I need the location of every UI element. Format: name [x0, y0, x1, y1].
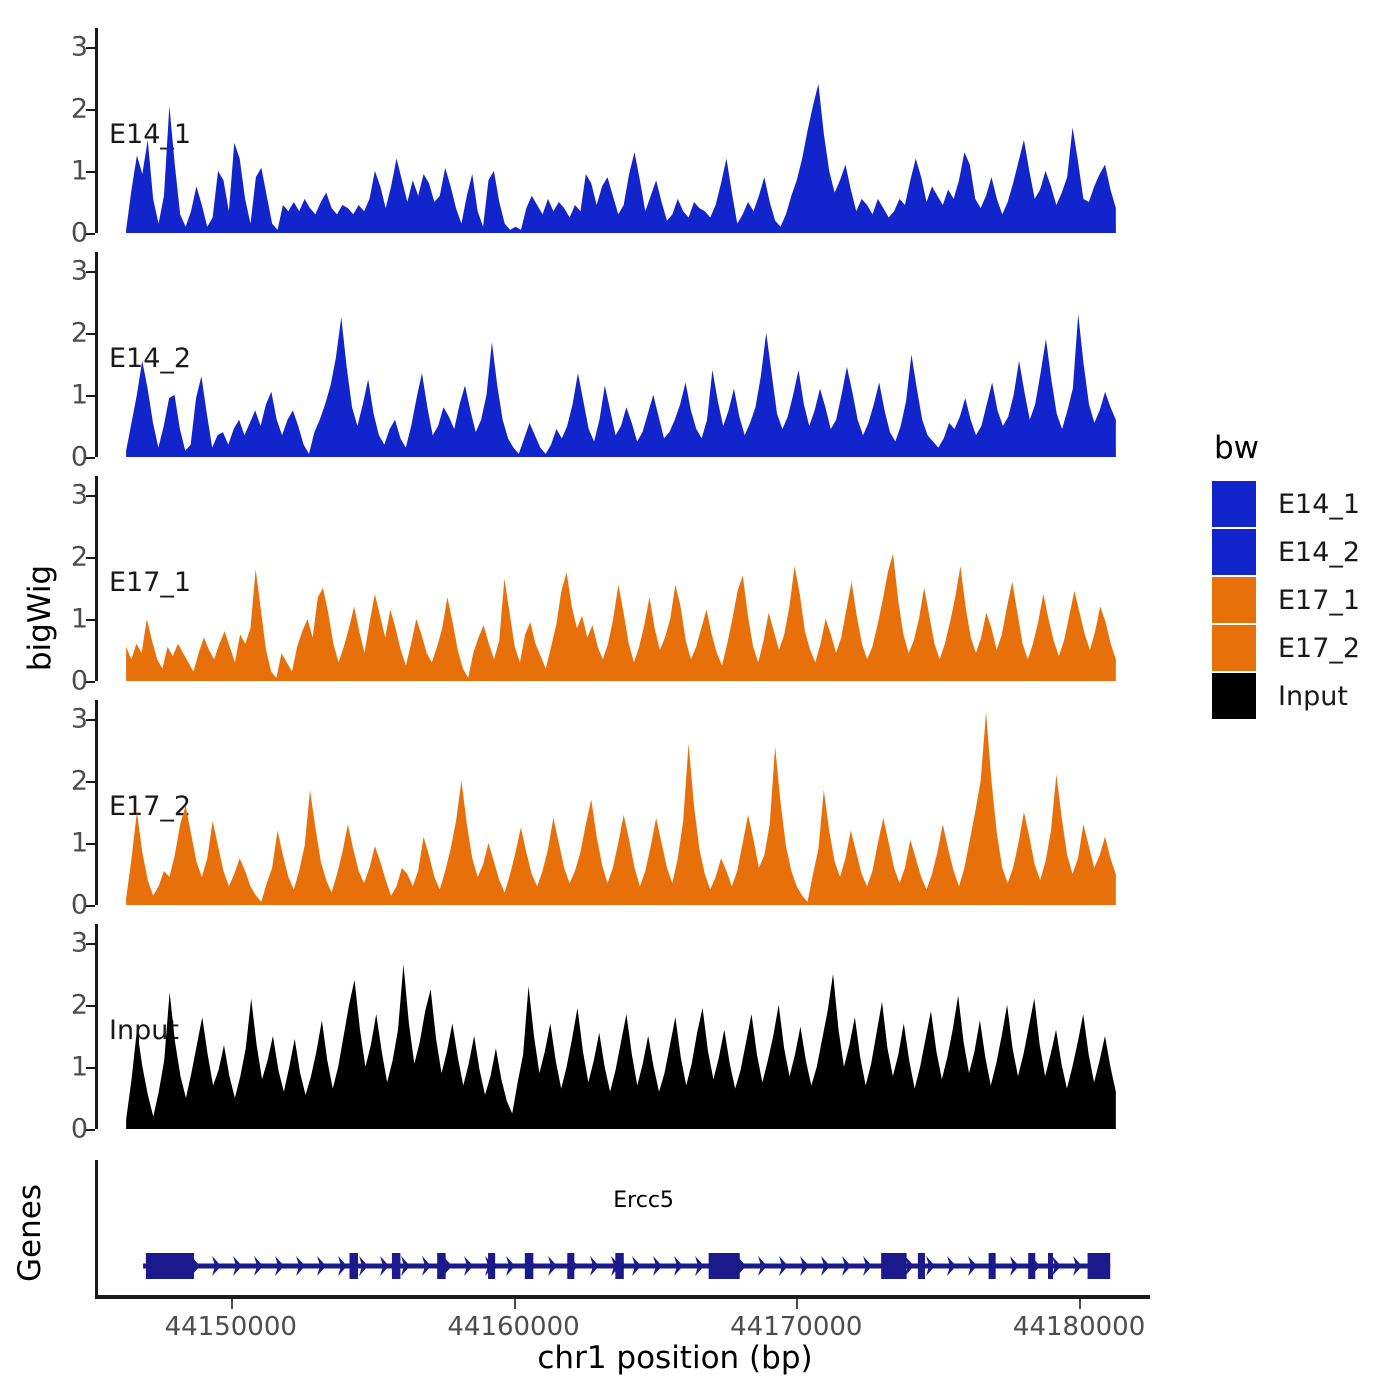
x-tick-mark — [231, 1299, 233, 1309]
y-tick-label: 0 — [71, 444, 88, 471]
legend-title: bw — [1214, 430, 1360, 466]
y-tick-label: 3 — [71, 481, 88, 508]
legend-items: E14_1E14_2E17_1E17_2Input — [1212, 480, 1360, 720]
legend-item-input[interactable]: Input — [1212, 672, 1360, 720]
y-tick-label: 2 — [71, 767, 88, 794]
legend-item-label: Input — [1278, 681, 1348, 712]
bigwig-axis-title: bigWig — [22, 518, 58, 718]
gene-exon — [918, 1253, 925, 1279]
genes-axis-line — [95, 1160, 98, 1295]
signal-area-e14_1 — [95, 28, 1130, 233]
legend-color-swatch — [1212, 577, 1256, 623]
legend-item-e14_2[interactable]: E14_2 — [1212, 528, 1360, 576]
x-tick-mark — [1079, 1299, 1081, 1309]
gene-exon — [488, 1253, 495, 1279]
legend: bw E14_1E14_2E17_1E17_2Input — [1212, 430, 1360, 720]
y-tick-label: 0 — [71, 220, 88, 247]
signal-area-e17_1 — [95, 476, 1130, 681]
x-tick-mark — [796, 1299, 798, 1309]
track-panel-e14_2: 0123E14_2 — [95, 252, 1130, 457]
legend-item-label: E14_2 — [1278, 537, 1360, 568]
gene-exon — [1028, 1253, 1035, 1279]
gene-exon — [1048, 1253, 1053, 1279]
y-tick-label: 0 — [71, 1116, 88, 1143]
y-tick-label: 1 — [71, 605, 88, 632]
gene-exon — [350, 1253, 358, 1279]
y-tick-label: 1 — [71, 1053, 88, 1080]
x-tick-label: 44180000 — [1013, 1312, 1145, 1342]
x-axis-title: chr1 position (bp) — [200, 1340, 1150, 1376]
legend-color-swatch — [1212, 481, 1256, 527]
gene-intron-line — [143, 1264, 1110, 1269]
legend-color-swatch — [1212, 529, 1256, 575]
signal-area-e14_2 — [95, 252, 1130, 457]
gene-exon — [709, 1253, 740, 1279]
gene-name-label: Ercc5 — [613, 1188, 674, 1213]
legend-color-swatch — [1212, 625, 1256, 671]
signal-area-e17_2 — [95, 700, 1130, 905]
legend-item-e17_2[interactable]: E17_2 — [1212, 624, 1360, 672]
gene-exon — [881, 1253, 906, 1279]
legend-item-e14_1[interactable]: E14_1 — [1212, 480, 1360, 528]
legend-item-label: E17_1 — [1278, 585, 1360, 616]
gene-exon — [615, 1253, 623, 1279]
track-panel-e14_1: 0123E14_1 — [95, 28, 1130, 233]
legend-item-label: E14_1 — [1278, 489, 1360, 520]
gene-exon — [1088, 1253, 1111, 1279]
y-tick-label: 2 — [71, 319, 88, 346]
legend-item-e17_1[interactable]: E17_1 — [1212, 576, 1360, 624]
gene-exon — [567, 1253, 574, 1279]
y-tick-label: 0 — [71, 668, 88, 695]
gene-exon — [146, 1253, 194, 1279]
x-tick-mark — [514, 1299, 516, 1309]
y-tick-label: 1 — [71, 157, 88, 184]
y-tick-label: 2 — [71, 543, 88, 570]
y-tick-label: 1 — [71, 829, 88, 856]
y-tick-label: 3 — [71, 33, 88, 60]
y-tick-label: 2 — [71, 991, 88, 1018]
x-tick-label: 44160000 — [447, 1312, 579, 1342]
y-tick-label: 1 — [71, 381, 88, 408]
gene-exon — [437, 1253, 445, 1279]
gene-exon — [525, 1253, 533, 1279]
x-axis-line — [95, 1295, 1150, 1299]
y-tick-label: 2 — [71, 95, 88, 122]
gene-exon — [392, 1253, 400, 1279]
legend-item-label: E17_2 — [1278, 633, 1360, 664]
y-tick-label: 0 — [71, 892, 88, 919]
y-tick-label: 3 — [71, 705, 88, 732]
signal-area-input — [95, 924, 1130, 1129]
gene-model-svg — [95, 1160, 1130, 1295]
x-tick-label: 44150000 — [165, 1312, 297, 1342]
y-tick-label: 3 — [71, 929, 88, 956]
track-panel-input: 0123Input — [95, 924, 1130, 1129]
legend-color-swatch — [1212, 673, 1256, 719]
y-tick-label: 3 — [71, 257, 88, 284]
gene-exon — [989, 1253, 996, 1279]
track-panel-e17_1: 0123E17_1 — [95, 476, 1130, 681]
x-tick-label: 44170000 — [730, 1312, 862, 1342]
genes-axis-title: Genes — [12, 1148, 48, 1318]
track-panel-e17_2: 0123E17_2 — [95, 700, 1130, 905]
genes-panel: Ercc5 — [95, 1160, 1130, 1295]
